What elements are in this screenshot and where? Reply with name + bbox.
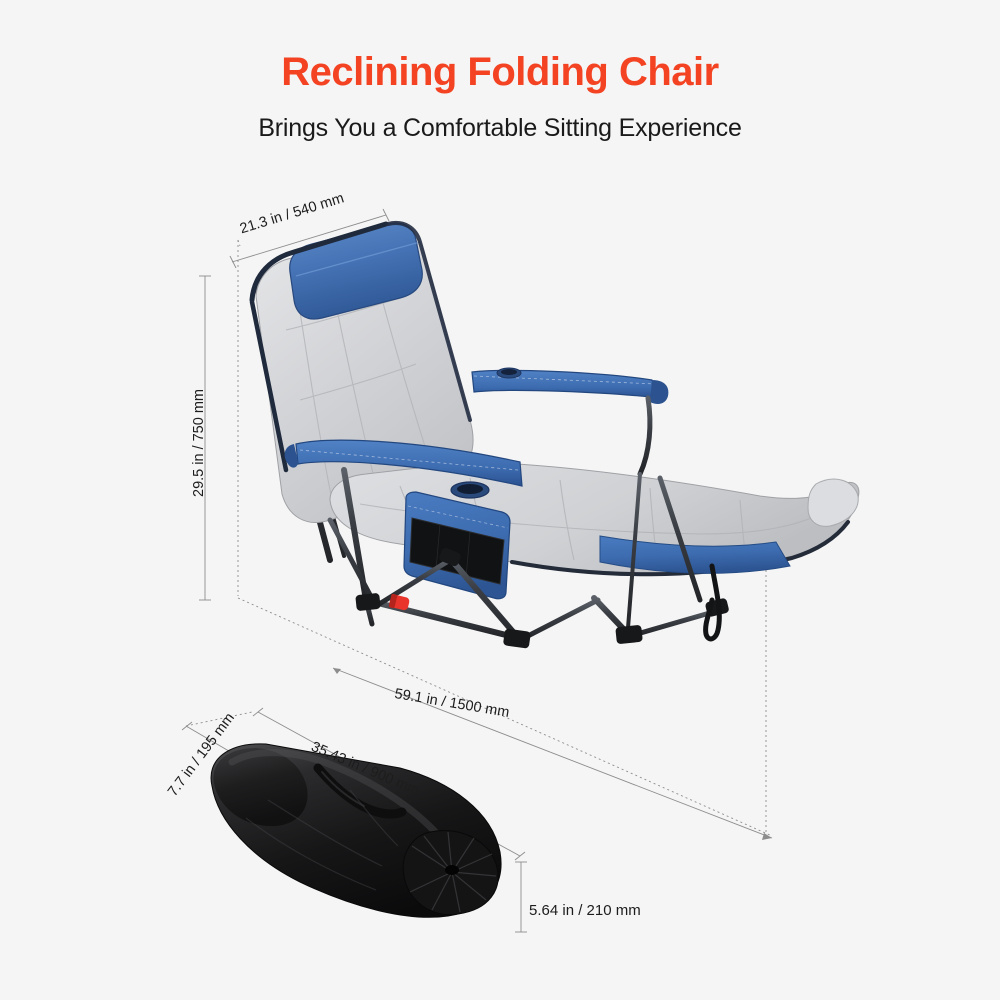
infographic-canvas: Reclining Folding Chair Brings You a Com…	[0, 0, 1000, 1000]
armrest-far-post	[640, 398, 650, 474]
folding-chair	[252, 223, 859, 649]
dimension-label-bag-height: 5.64 in / 210 mm	[529, 902, 641, 919]
dimension-label-chair-height: 29.5 in / 750 mm	[191, 389, 207, 497]
armrest-far	[472, 368, 668, 404]
product-illustration	[0, 0, 1000, 1000]
footrest-tip	[808, 479, 858, 526]
